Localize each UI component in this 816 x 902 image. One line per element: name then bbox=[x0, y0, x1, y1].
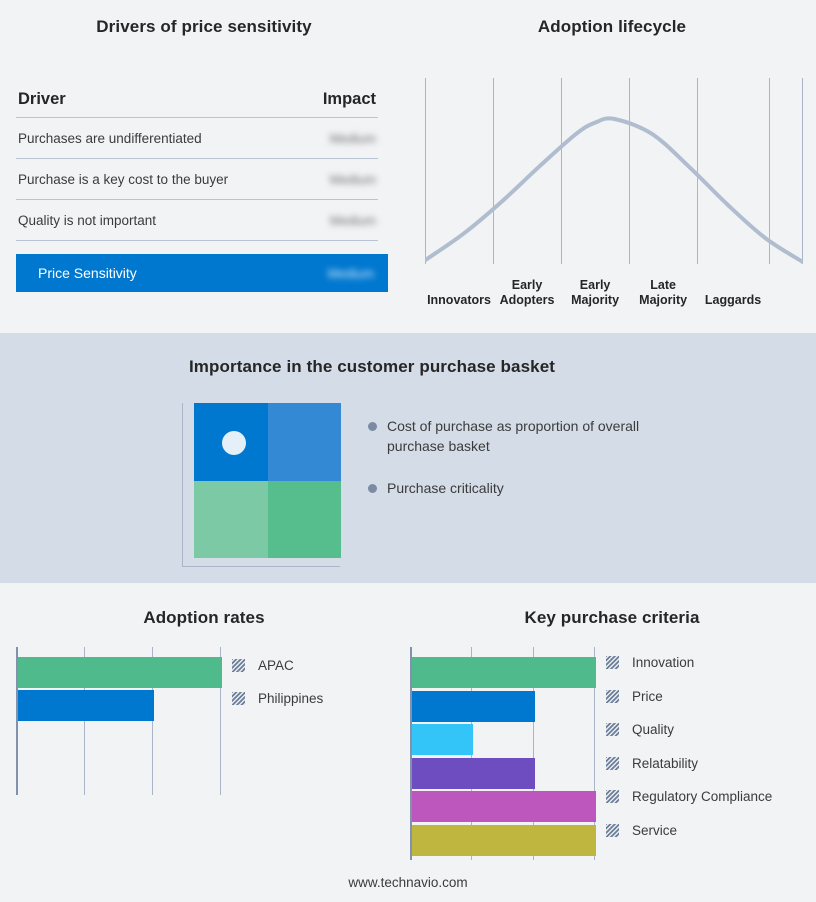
lifecycle-stage-label-line: Majority bbox=[639, 293, 687, 308]
bar-regulatory-compliance bbox=[412, 791, 596, 822]
column-header-impact: Impact bbox=[323, 90, 376, 109]
footer-url: www.technavio.com bbox=[0, 875, 816, 890]
column-header-driver: Driver bbox=[18, 90, 323, 109]
lifecycle-stage-label-line: Innovators bbox=[427, 293, 491, 308]
lifecycle-stage-label: EarlyMajority bbox=[561, 264, 629, 310]
hatched-swatch-icon bbox=[606, 690, 619, 703]
hatched-swatch-icon bbox=[232, 692, 245, 705]
table-row: Purchase is a key cost to the buyer Medi… bbox=[16, 159, 378, 200]
legend-label: Quality bbox=[632, 722, 674, 737]
basket-panel-title: Importance in the customer purchase bask… bbox=[0, 357, 744, 377]
legend-label: Innovation bbox=[632, 655, 694, 670]
lifecycle-stage-label-line: Early bbox=[512, 278, 543, 293]
bar-innovation bbox=[412, 657, 596, 688]
lifecycle-chart: InnovatorsEarlyAdoptersEarlyMajorityLate… bbox=[425, 78, 803, 310]
quadrant-position-marker bbox=[222, 431, 246, 455]
table-row: Purchases are undifferentiated Medium bbox=[16, 118, 378, 159]
legend-label: APAC bbox=[258, 658, 294, 673]
basket-legend-label: Cost of purchase as proportion of overal… bbox=[387, 416, 655, 456]
criteria-bars bbox=[412, 647, 598, 860]
panel-key-purchase-criteria: Key purchase criteria InnovationPriceQua… bbox=[408, 583, 816, 902]
lifecycle-stage-label-line: Adopters bbox=[500, 293, 555, 308]
lifecycle-stage-label: Innovators bbox=[425, 264, 493, 310]
lifecycle-bell-curve bbox=[425, 118, 803, 262]
legend-item: Quality bbox=[606, 713, 772, 747]
basket-legend: Cost of purchase as proportion of overal… bbox=[368, 416, 668, 520]
quadrant-y-axis bbox=[182, 403, 183, 567]
lifecycle-panel-title: Adoption lifecycle bbox=[408, 17, 816, 37]
bar-relatability bbox=[412, 758, 535, 789]
quadrant-cell-bottom-right bbox=[268, 481, 342, 559]
adoption-rates-panel-title: Adoption rates bbox=[0, 608, 408, 628]
lifecycle-stage-label: Laggards bbox=[697, 264, 769, 310]
driver-name: Quality is not important bbox=[18, 213, 330, 228]
quadrant-matrix bbox=[182, 403, 342, 573]
legend-item: Relatability bbox=[606, 747, 772, 781]
panel-drivers-of-price-sensitivity: Drivers of price sensitivity Driver Impa… bbox=[0, 0, 408, 333]
basket-legend-label: Purchase criticality bbox=[387, 478, 504, 498]
table-row: Quality is not important Medium bbox=[16, 200, 378, 241]
lifecycle-stage-label: LateMajority bbox=[629, 264, 697, 310]
bar-quality bbox=[412, 724, 473, 755]
bullet-icon bbox=[368, 484, 377, 493]
summary-impact-value: Medium bbox=[328, 266, 374, 281]
lifecycle-stage-label-line: Early bbox=[580, 278, 611, 293]
lifecycle-gridlines bbox=[426, 78, 803, 264]
quadrant-grid bbox=[194, 403, 341, 558]
hatched-swatch-icon bbox=[606, 790, 619, 803]
legend-item: Price bbox=[606, 680, 772, 714]
driver-name: Purchases are undifferentiated bbox=[18, 131, 330, 146]
bar-philippines bbox=[18, 690, 154, 721]
adoption-rates-bars bbox=[18, 647, 224, 795]
lifecycle-stage-label-line: Laggards bbox=[705, 293, 761, 308]
bar-service bbox=[412, 825, 596, 856]
legend-item: APAC bbox=[232, 649, 323, 682]
basket-legend-item: Cost of purchase as proportion of overal… bbox=[368, 416, 668, 456]
legend-item: Innovation bbox=[606, 646, 772, 680]
drivers-panel-title: Drivers of price sensitivity bbox=[0, 17, 408, 37]
criteria-panel-title: Key purchase criteria bbox=[408, 608, 816, 628]
hatched-swatch-icon bbox=[606, 723, 619, 736]
hatched-swatch-icon bbox=[232, 659, 245, 672]
panel-adoption-rates: Adoption rates APACPhilippines bbox=[0, 583, 408, 902]
panel-purchase-basket: Importance in the customer purchase bask… bbox=[0, 333, 816, 583]
driver-impact-value: Medium bbox=[330, 131, 376, 146]
drivers-table: Driver Impact Purchases are undifferenti… bbox=[16, 90, 378, 292]
legend-label: Price bbox=[632, 689, 663, 704]
price-sensitivity-summary-row: Price Sensitivity Medium bbox=[16, 254, 388, 292]
legend-item: Philippines bbox=[232, 682, 323, 715]
bar-apac bbox=[18, 657, 222, 688]
drivers-table-header: Driver Impact bbox=[16, 90, 378, 118]
summary-label: Price Sensitivity bbox=[38, 265, 328, 281]
hatched-swatch-icon bbox=[606, 824, 619, 837]
hatched-swatch-icon bbox=[606, 757, 619, 770]
adoption-rates-legend: APACPhilippines bbox=[232, 649, 323, 715]
quadrant-cell-top-right bbox=[268, 403, 342, 481]
lifecycle-stage-label-line: Late bbox=[650, 278, 676, 293]
legend-item: Regulatory Compliance bbox=[606, 780, 772, 814]
legend-label: Service bbox=[632, 823, 677, 838]
criteria-legend: InnovationPriceQualityRelatabilityRegula… bbox=[606, 646, 772, 847]
quadrant-cell-bottom-left bbox=[194, 481, 268, 559]
legend-label: Regulatory Compliance bbox=[632, 789, 772, 804]
bullet-icon bbox=[368, 422, 377, 431]
driver-name: Purchase is a key cost to the buyer bbox=[18, 172, 330, 187]
lifecycle-stage-label: EarlyAdopters bbox=[493, 264, 561, 310]
legend-item: Service bbox=[606, 814, 772, 848]
basket-legend-item: Purchase criticality bbox=[368, 478, 668, 498]
lifecycle-stage-label-line: Majority bbox=[571, 293, 619, 308]
driver-impact-value: Medium bbox=[330, 172, 376, 187]
hatched-swatch-icon bbox=[606, 656, 619, 669]
quadrant-x-axis bbox=[182, 566, 340, 567]
lifecycle-stage-labels: InnovatorsEarlyAdoptersEarlyMajorityLate… bbox=[425, 264, 803, 310]
criteria-chart bbox=[410, 647, 596, 860]
panel-adoption-lifecycle: Adoption lifecycle InnovatorsEarlyAdopte… bbox=[408, 0, 816, 333]
quadrant-cell-top-left bbox=[194, 403, 268, 481]
bar-price bbox=[412, 691, 535, 722]
adoption-rates-chart bbox=[16, 647, 222, 795]
driver-impact-value: Medium bbox=[330, 213, 376, 228]
legend-label: Relatability bbox=[632, 756, 698, 771]
infographic-page: Drivers of price sensitivity Driver Impa… bbox=[0, 0, 816, 902]
legend-label: Philippines bbox=[258, 691, 323, 706]
